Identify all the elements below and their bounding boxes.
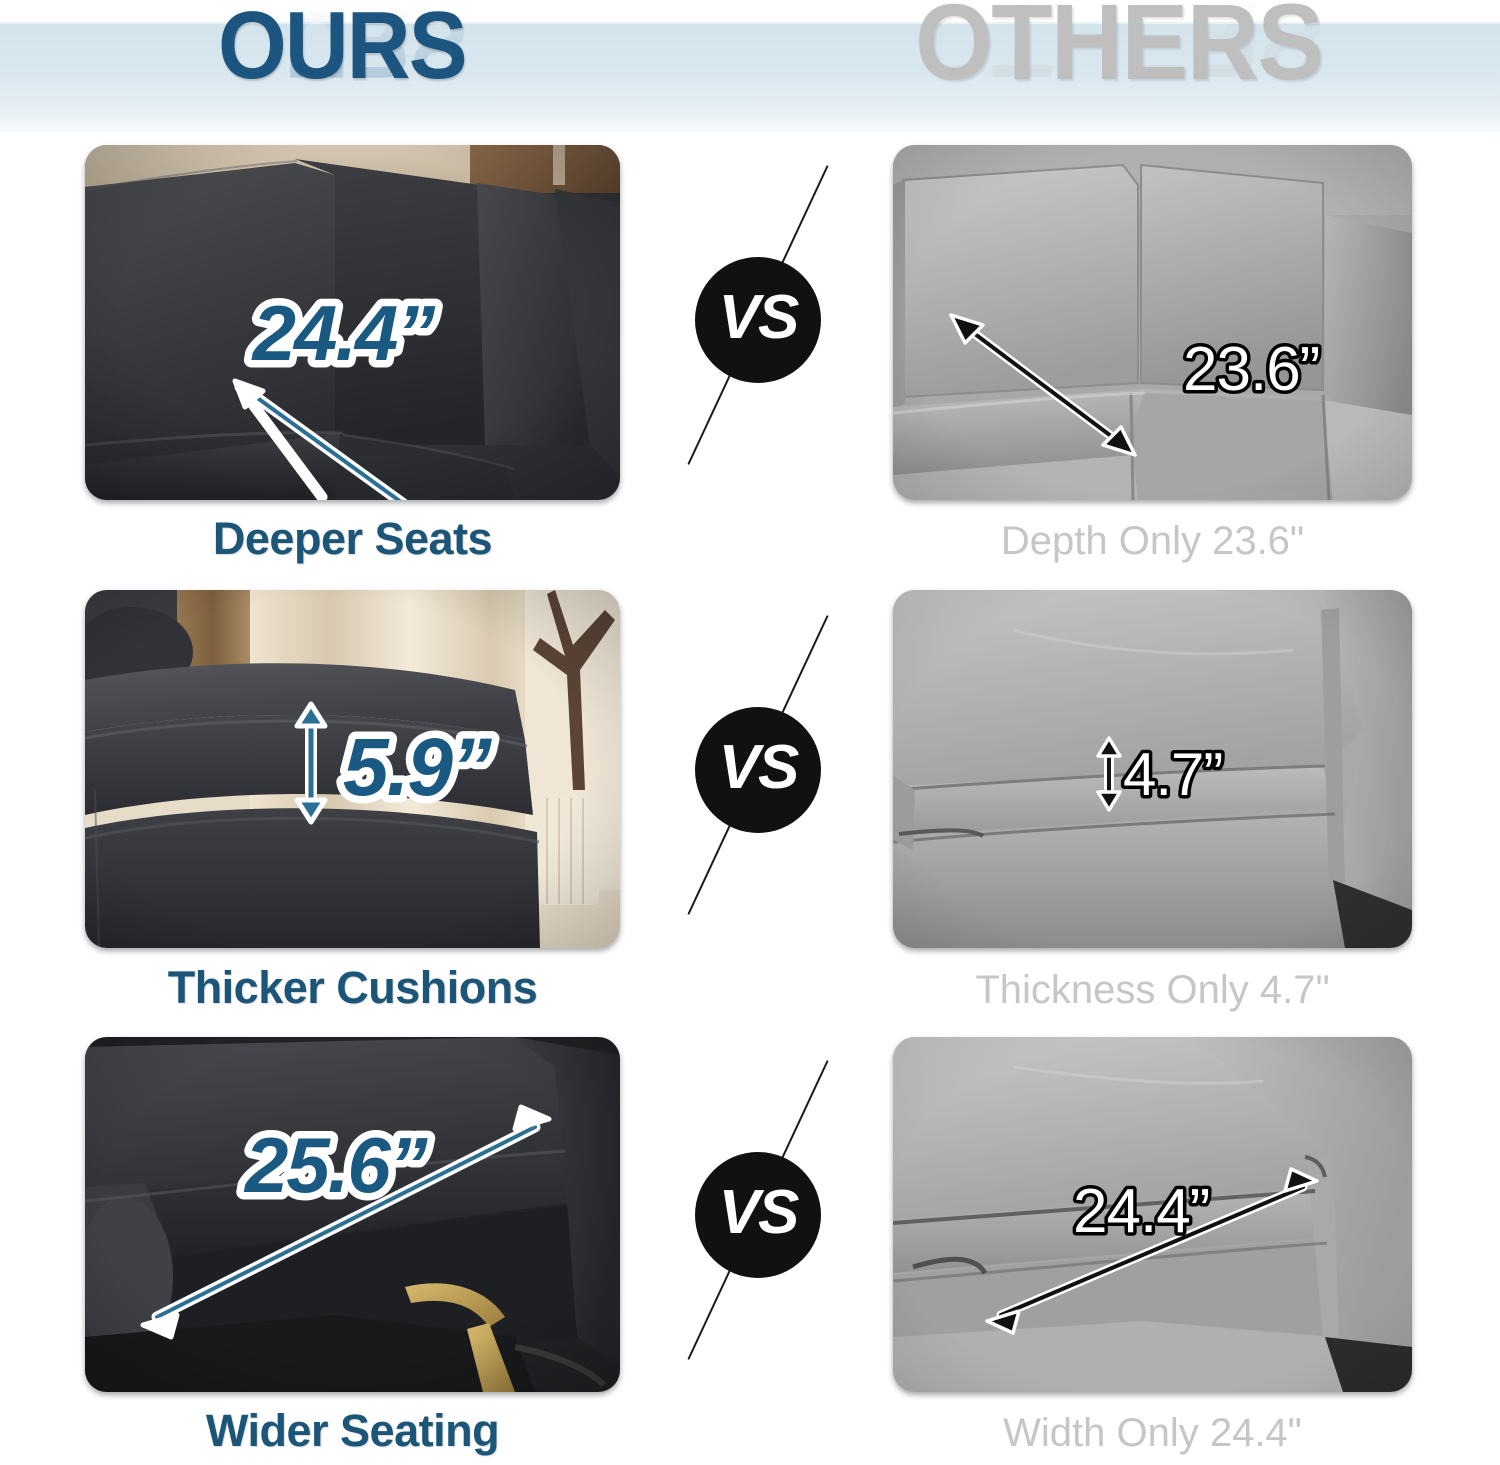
vs-divider-1: VS	[648, 150, 868, 490]
ours-caption-depth: Deeper Seats	[85, 516, 620, 561]
vs-divider-3: VS	[648, 1045, 868, 1385]
others-image-panel-thickness: 4.7”	[893, 590, 1412, 948]
vs-label: VS	[719, 287, 798, 349]
header: OURS OTHERS OURS OTHERS	[0, 0, 1500, 132]
measure-label-ours-depth: 24.4”	[251, 289, 436, 377]
measure-label-others-thickness: 4.7”	[1123, 741, 1222, 808]
others-caption-depth: Depth Only 23.6"	[893, 521, 1412, 561]
ours-caption-thickness: Thicker Cushions	[85, 965, 620, 1010]
ours-title: OURS	[218, 0, 466, 94]
others-caption-thickness: Thickness Only 4.7"	[893, 970, 1412, 1010]
others-image-panel-width: 24.4”	[893, 1037, 1412, 1392]
ours-image-panel-width: 25.6”	[85, 1037, 620, 1392]
vs-badge: VS	[695, 707, 821, 833]
measure-label-ours-width: 25.6”	[243, 1121, 428, 1209]
others-title: OTHERS	[915, 0, 1322, 96]
others-caption-width: Width Only 24.4"	[893, 1413, 1412, 1453]
measure-label-ours-thickness: 5.9”	[343, 722, 492, 813]
ours-image-panel-thickness: 5.9”	[85, 590, 620, 948]
comparison-infographic: OURS OTHERS OURS OTHERS	[0, 0, 1500, 1465]
measure-label-others-depth: 23.6”	[1183, 335, 1319, 404]
vs-divider-2: VS	[648, 600, 868, 940]
vs-badge: VS	[695, 1152, 821, 1278]
vs-badge: VS	[695, 257, 821, 383]
vs-label: VS	[719, 1182, 798, 1244]
vs-label: VS	[719, 737, 798, 799]
measure-label-others-width: 24.4”	[1073, 1177, 1209, 1246]
ours-image-panel-depth: 24.4”	[85, 145, 620, 500]
others-image-panel-depth: 23.6”	[893, 145, 1412, 500]
ours-caption-width: Wider Seating	[85, 1408, 620, 1453]
